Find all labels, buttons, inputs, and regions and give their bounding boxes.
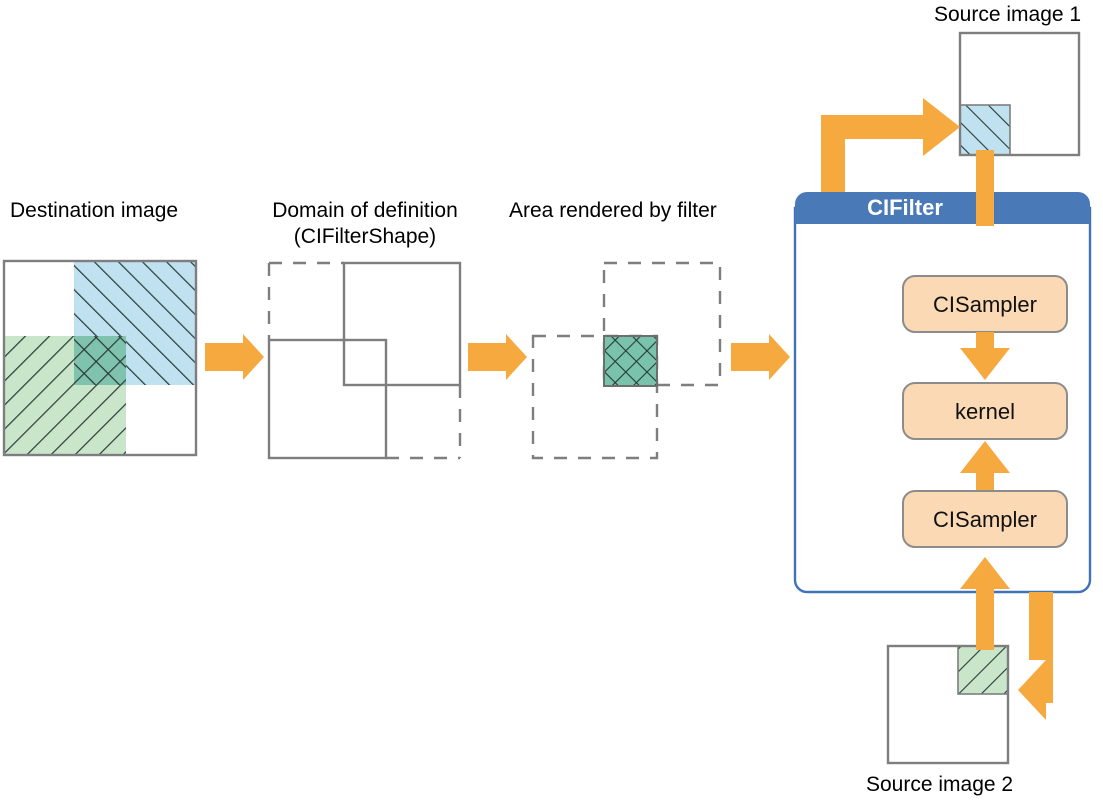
source-image-2-swatch [958,646,1008,694]
node-label-cisampler-top: CISampler [903,292,1067,318]
arrow-filter-to-source-2 [1018,592,1053,720]
destination-image-figure [4,261,196,455]
area-intersection-swatch [604,336,657,386]
flow-arrow-1 [205,334,264,380]
source-image-2-figure [888,646,1008,763]
domain-solid-square-top-right [344,263,460,385]
domain-solid-square-bottom-left [269,340,386,458]
flow-arrow-2 [468,334,527,380]
diagram-canvas: Destination image Domain of definition (… [0,0,1103,806]
destination-overlap-region [74,336,126,385]
source-image-1-figure [960,33,1079,155]
node-label-kernel: kernel [903,399,1067,425]
flow-arrow-3 [731,334,790,380]
cifilter-header-title: CIFilter [845,195,965,221]
area-rendered-figure [533,263,720,458]
arrow-stem-over-header [976,192,994,226]
domain-of-definition-figure [269,263,460,458]
node-label-cisampler-bottom: CISampler [903,507,1067,533]
source-image-1-swatch [960,105,1010,155]
